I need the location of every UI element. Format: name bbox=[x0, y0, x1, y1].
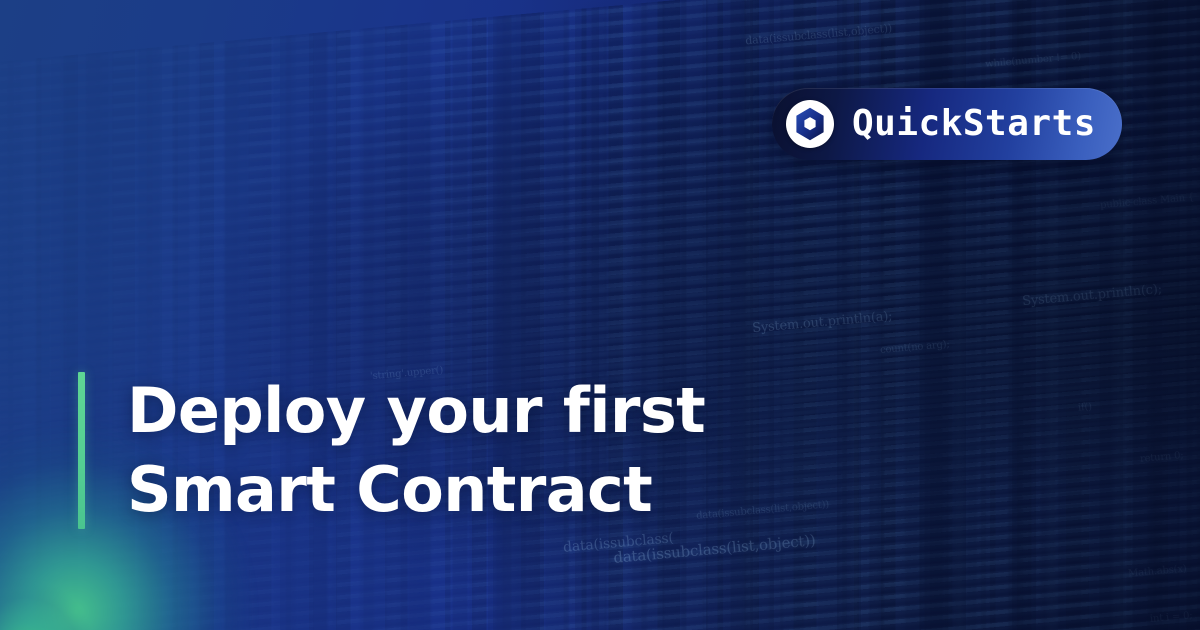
quickstarts-banner: data(issubclass(list,object))while(numbe… bbox=[0, 0, 1200, 630]
quickstarts-badge-label: QuickStarts bbox=[852, 106, 1096, 142]
chainlink-hexagon-icon bbox=[786, 100, 834, 148]
green-accent-bar bbox=[78, 372, 85, 529]
page-title: Deploy your first Smart Contract bbox=[85, 372, 705, 529]
headline-block: Deploy your first Smart Contract bbox=[78, 372, 705, 529]
quickstarts-badge[interactable]: QuickStarts bbox=[772, 88, 1122, 160]
